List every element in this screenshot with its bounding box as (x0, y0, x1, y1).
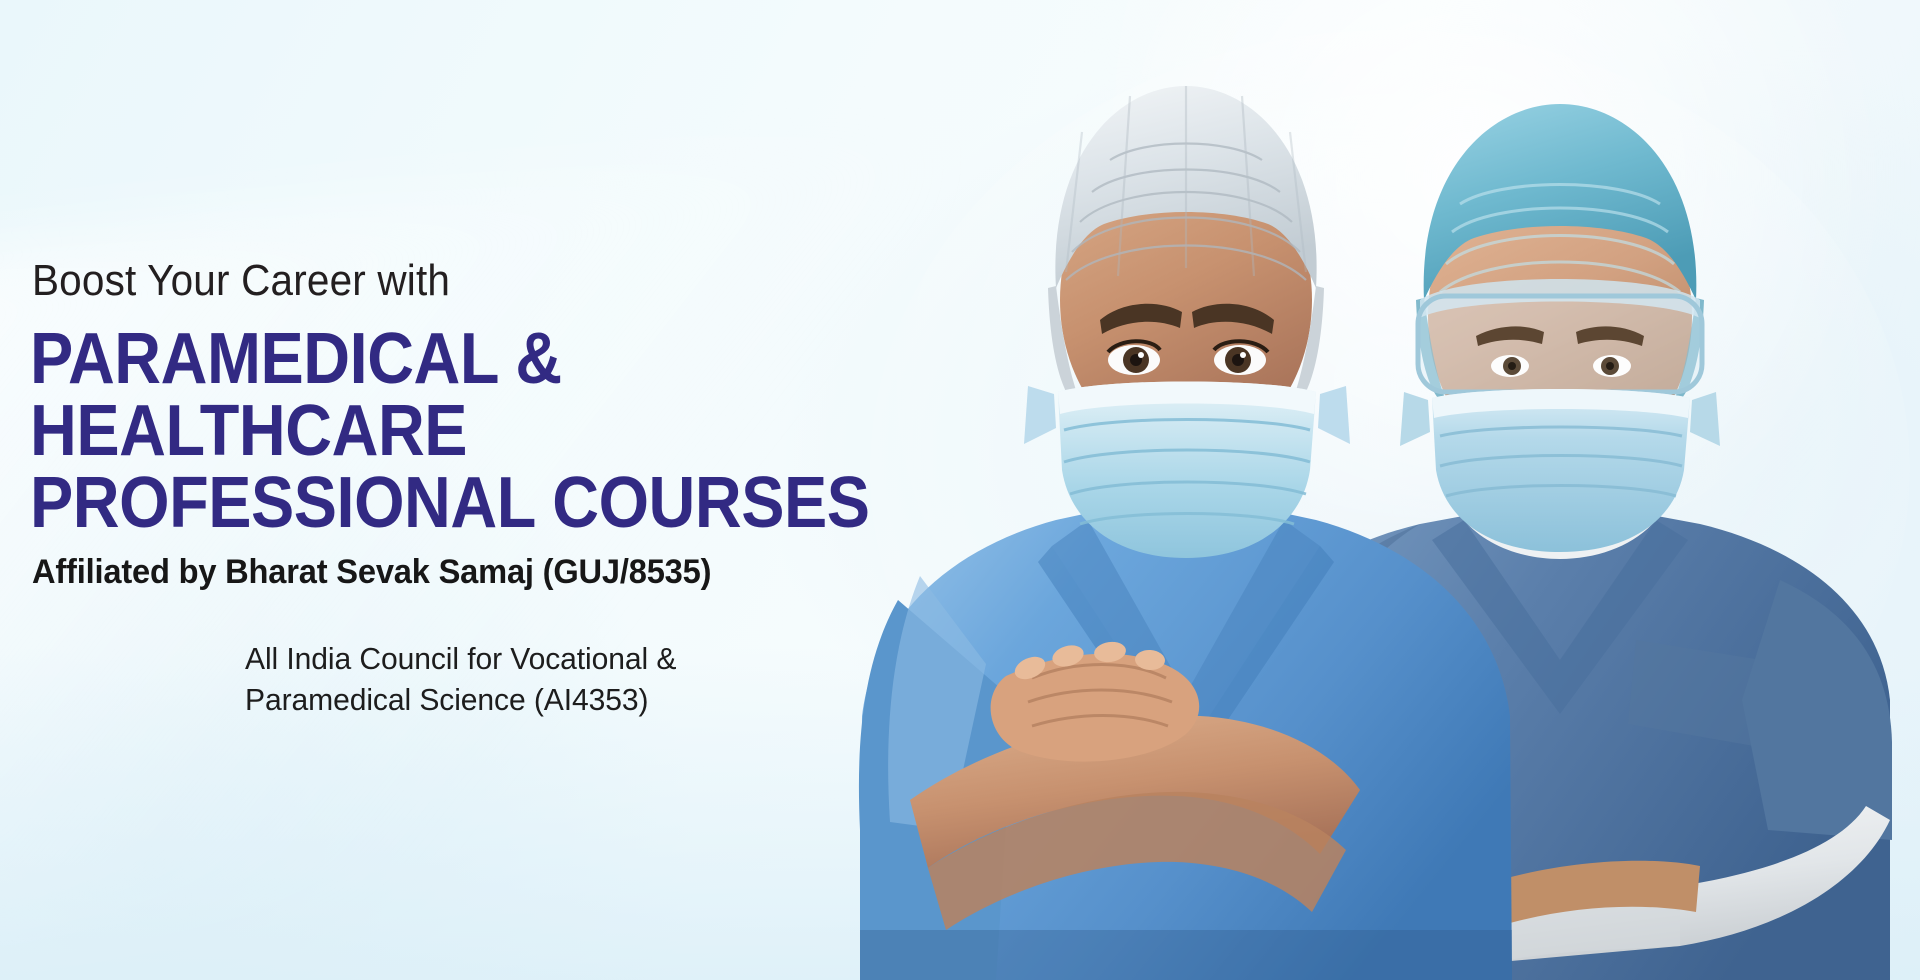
banner-copy: Boost Your Career with PARAMEDICAL & HEA… (30, 258, 890, 721)
council-text: All India Council for Vocational & Param… (245, 638, 871, 721)
healthcare-professionals-photo (800, 0, 1920, 980)
page-title: PARAMEDICAL & HEALTHCARE PROFESSIONAL CO… (30, 323, 804, 539)
male-safety-glasses (1418, 279, 1702, 392)
eyebrow-text: Boost Your Career with (32, 258, 821, 305)
affiliation-text: Affiliated by Bharat Sevak Samaj (GUJ/85… (32, 553, 856, 592)
council-line-1: All India Council for Vocational & (245, 638, 871, 680)
council-line-2: Paramedical Science (AI4353) (245, 679, 871, 721)
headline-line-3: PROFESSIONAL COURSES (30, 467, 804, 539)
female-scrubs-hem (860, 930, 1512, 980)
headline-line-1: PARAMEDICAL & (30, 323, 804, 395)
headline-line-2: HEALTHCARE (30, 395, 804, 467)
healthcare-professionals-illustration (800, 0, 1920, 980)
paramedical-courses-banner: Boost Your Career with PARAMEDICAL & HEA… (0, 0, 1920, 980)
